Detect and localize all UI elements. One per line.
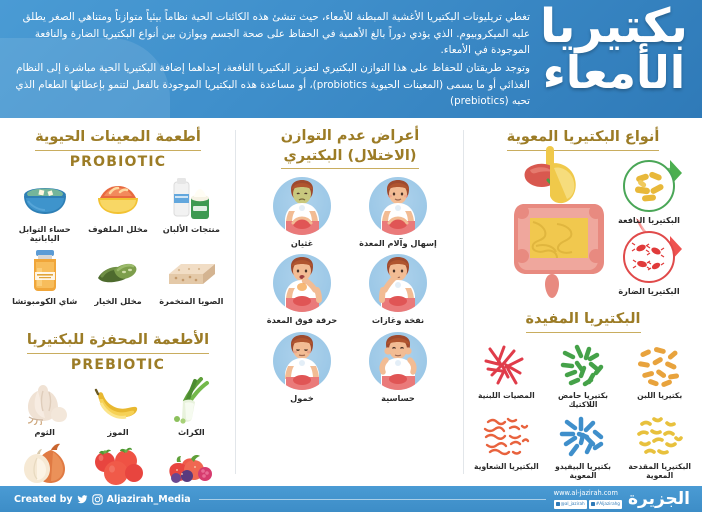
actinobacteria-icon [468, 413, 545, 461]
food-label: الموز [81, 428, 154, 438]
woman-heartburn-icon [273, 254, 331, 312]
header-paragraph-1: تغطي تريليونات البكتيريا الأغشية المبطنة… [12, 9, 530, 59]
woman-nausea-icon [273, 177, 331, 235]
symptom-item[interactable]: غثيان [254, 177, 350, 249]
lactic-acid-bacteria-icon [545, 342, 622, 390]
food-item[interactable]: الثوم [8, 379, 81, 438]
probiotic-title-en: PROBIOTIC [0, 154, 236, 170]
symptom-label: غثيان [254, 239, 350, 249]
food-item[interactable]: الكراث [155, 379, 228, 438]
footer-divider-line [199, 499, 546, 500]
banana-icon [81, 379, 154, 425]
footer-account[interactable]: Aljazirah_Media [107, 494, 191, 505]
food-label: حساء التوابل اليابانية [8, 225, 81, 245]
food-item[interactable]: مخلل الملفوف [81, 176, 154, 245]
useful-bacteria-label: البكتيريا الشعاوية [468, 462, 545, 471]
lactococcus-icon [468, 342, 545, 390]
prebiotic-title-en: PREBIOTIC [0, 357, 236, 373]
useful-bacteria-item[interactable]: بكتيريا اللبن [621, 342, 698, 409]
symptom-item[interactable]: خمول [254, 332, 350, 404]
aljazirah-logo[interactable]: الجزيرة [628, 489, 690, 509]
symptom-label: إسهال وآلام المعدة [350, 239, 446, 249]
bacteria-column: أنواع البكتيريا المعوية [464, 118, 702, 486]
food-label: الثوم [8, 428, 81, 438]
lactobacillus-icon [621, 342, 698, 390]
header-description: تغطي تريليونات البكتيريا الأغشية المبطنة… [12, 9, 530, 111]
pickles-icon [81, 248, 154, 294]
useful-bacteria-label: بكتيريا البيفيدو المعوية [545, 462, 622, 480]
footer-badge-1-label: @al_jazirah [561, 501, 585, 507]
useful-section-title: البكتيريا المفيدة [464, 308, 702, 333]
food-item[interactable]: شاي الكومبوتشا [8, 248, 81, 307]
food-label: منتجات الألبان [155, 225, 228, 235]
twitter-icon[interactable] [77, 494, 88, 505]
symptoms-column: أعراض عدم التوازن (الاختلال) البكتيري [236, 118, 464, 486]
symptom-label: حرقة فوق المعدة [254, 316, 350, 326]
symptom-item[interactable]: نفخة وغازات [350, 254, 446, 326]
food-item[interactable]: حساء التوابل اليابانية [8, 176, 81, 245]
useful-bacteria-item[interactable]: البكتيريا المقدحة المعوية [621, 413, 698, 480]
footer-badge-2-label: #Aljazirahg [596, 501, 620, 507]
footer-site-block: www.al-jazirah.com @al_jazirah #Aljazira… [554, 489, 622, 508]
prebiotic-section-title: الأطعمة المحفزة للبكتيريا PREBIOTIC [0, 329, 236, 373]
footer-created-by: Created by [14, 494, 73, 505]
page-title-line-1: بكتيريا [534, 4, 694, 49]
food-label: الكراث [155, 428, 228, 438]
symptom-item[interactable]: حرقة فوق المعدة [254, 254, 350, 326]
symptoms-title-line-1: أعراض عدم التوازن [281, 128, 420, 144]
food-item[interactable]: مخلل الخيار [81, 248, 154, 307]
enterococcus-icon [621, 413, 698, 461]
tomato-icon [81, 442, 154, 488]
prebiotic-title-ar: الأطعمة المحفزة للبكتيريا [27, 331, 209, 354]
foods-column: أطعمة المعينات الحيوية PROBIOTIC [0, 118, 236, 486]
garlic-icon [8, 379, 81, 425]
useful-bacteria-grid: بكتيريا اللبن [464, 342, 702, 484]
symptoms-section-title: أعراض عدم التوازن (الاختلال) البكتيري [236, 126, 464, 169]
symptoms-title-line-2: (الاختلال) البكتيري [284, 148, 417, 164]
useful-bacteria-item[interactable]: بكتيريا حامض اللاكتيك [545, 342, 622, 409]
footer-badge-twitter[interactable]: @al_jazirah [554, 500, 587, 508]
sauerkraut-bowl-icon [81, 176, 154, 222]
footer-badge-facebook[interactable]: #Aljazirahg [589, 500, 622, 508]
probiotic-section-title: أطعمة المعينات الحيوية PROBIOTIC [0, 126, 236, 170]
woman-allergy-icon [369, 332, 427, 390]
useful-bacteria-item[interactable]: البكتيريا الشعاوية [468, 413, 545, 480]
bacteria-type-label: البكتيريا النافعة [608, 215, 690, 225]
tempeh-icon [155, 248, 228, 294]
probiotic-title-ar: أطعمة المعينات الحيوية [35, 128, 201, 151]
woman-fatigue-icon [273, 332, 331, 390]
useful-bacteria-item[interactable]: بكتيريا البيفيدو المعوية [545, 413, 622, 480]
dairy-icon [155, 176, 228, 222]
symptom-item[interactable]: إسهال وآلام المعدة [350, 177, 446, 249]
good-bacteria-icon [623, 160, 675, 212]
useful-bacteria-label: بكتيريا اللبن [621, 391, 698, 400]
page-title-line-2: الأمعاء [534, 51, 694, 94]
bad-bacteria-icon [623, 231, 675, 283]
symptom-label: حساسية [350, 394, 446, 404]
main-content: أطعمة المعينات الحيوية PROBIOTIC [0, 118, 702, 486]
food-label: شاي الكومبوتشا [8, 297, 81, 307]
food-item[interactable]: الصويا المتخمرة [155, 248, 228, 307]
bacteria-type-label: البكتيريا الضارة [608, 286, 690, 296]
symptoms-grid: إسهال وآلام المعدة [236, 177, 464, 411]
useful-bacteria-item[interactable]: المصيات اللبنية [468, 342, 545, 409]
useful-title: البكتيريا المفيدة [526, 310, 641, 333]
woman-stomach-pain-icon [369, 177, 427, 235]
berries-icon [155, 442, 228, 488]
header-paragraph-2: وتوجد طريقتان للحفاظ على هذا التوازن الب… [12, 60, 530, 110]
onion-icon [8, 442, 81, 488]
useful-bacteria-label: البكتيريا المقدحة المعوية [621, 462, 698, 480]
woman-bloating-icon [369, 254, 427, 312]
food-label: مخلل الخيار [81, 297, 154, 307]
footer-brand: www.al-jazirah.com @al_jazirah #Aljazira… [554, 489, 690, 509]
footer-bar: Created by Aljazirah_Media www.al-jazira… [0, 486, 702, 512]
useful-bacteria-label: بكتيريا حامض اللاكتيك [545, 391, 622, 409]
leek-icon [155, 379, 228, 425]
footer-credit: Created by Aljazirah_Media [14, 494, 191, 505]
instagram-icon[interactable] [92, 494, 103, 505]
bacteria-type-item[interactable]: البكتيريا الضارة [608, 231, 690, 296]
miso-soup-icon [8, 176, 81, 222]
symptom-label: خمول [254, 394, 350, 404]
food-item[interactable]: الموز [81, 379, 154, 438]
probiotic-food-grid: منتجات الألبان مخلل الملف [0, 176, 236, 312]
symptom-item[interactable]: حساسية [350, 332, 446, 404]
kombucha-jar-icon [8, 248, 81, 294]
header-banner: تغطي تريليونات البكتيريا الأغشية المبطنة… [0, 0, 702, 118]
food-item[interactable]: منتجات الألبان [155, 176, 228, 245]
food-label: الصويا المتخمرة [155, 297, 228, 307]
footer-website[interactable]: www.al-jazirah.com [554, 489, 622, 499]
bifidobacteria-icon [545, 413, 622, 461]
footer-social-badges: @al_jazirah #Aljazirahg [554, 500, 622, 508]
food-label: مخلل الملفوف [81, 225, 154, 235]
useful-bacteria-label: المصيات اللبنية [468, 391, 545, 400]
infographic-page: تغطي تريليونات البكتيريا الأغشية المبطنة… [0, 0, 702, 512]
bacteria-type-item[interactable]: البكتيريا النافعة [608, 160, 690, 225]
page-title: بكتيريا الأمعاء [534, 4, 694, 94]
symptom-label: نفخة وغازات [350, 316, 446, 326]
